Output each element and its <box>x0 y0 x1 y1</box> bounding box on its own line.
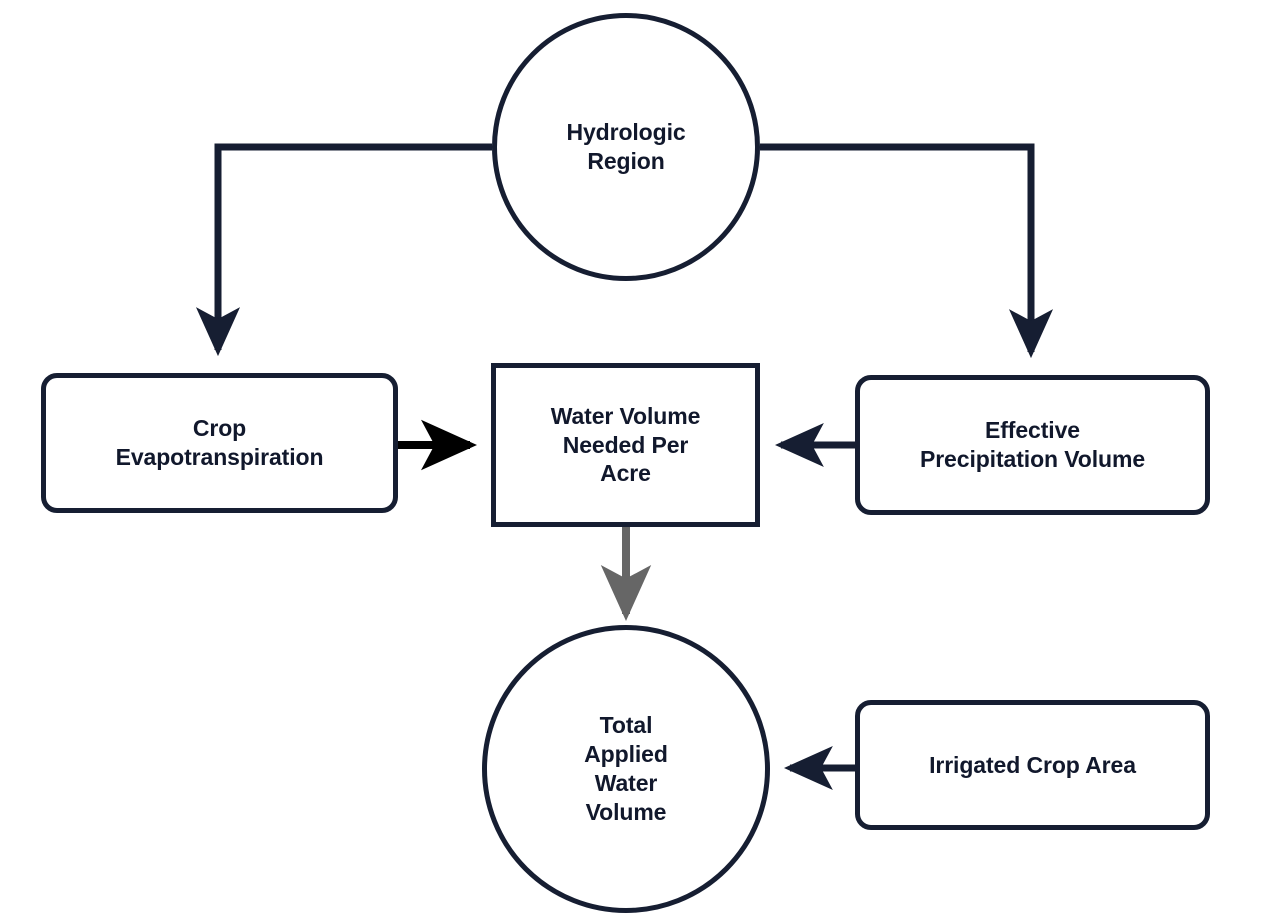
node-irrigated-crop-area-label: Irrigated Crop Area <box>929 751 1136 780</box>
edge-hydrologic-to-crop-et <box>218 147 492 350</box>
node-effective-precipitation-volume-label: Effective Precipitation Volume <box>920 416 1145 474</box>
node-total-applied-water-volume[interactable]: Total Applied Water Volume <box>482 625 770 913</box>
node-crop-evapotranspiration[interactable]: Crop Evapotranspiration <box>41 373 398 513</box>
node-crop-evapotranspiration-label: Crop Evapotranspiration <box>116 414 324 472</box>
node-water-volume-needed-per-acre[interactable]: Water Volume Needed Per Acre <box>491 363 760 527</box>
node-effective-precipitation-volume[interactable]: Effective Precipitation Volume <box>855 375 1210 515</box>
node-water-volume-needed-per-acre-label: Water Volume Needed Per Acre <box>551 402 701 489</box>
node-total-applied-water-volume-label: Total Applied Water Volume <box>584 711 668 827</box>
edge-hydrologic-to-effective-precip <box>760 147 1031 352</box>
node-hydrologic-region-label: Hydrologic Region <box>566 118 685 176</box>
node-irrigated-crop-area[interactable]: Irrigated Crop Area <box>855 700 1210 830</box>
node-hydrologic-region[interactable]: Hydrologic Region <box>492 13 760 281</box>
diagram-canvas: Hydrologic Region Crop Evapotranspiratio… <box>0 0 1262 924</box>
